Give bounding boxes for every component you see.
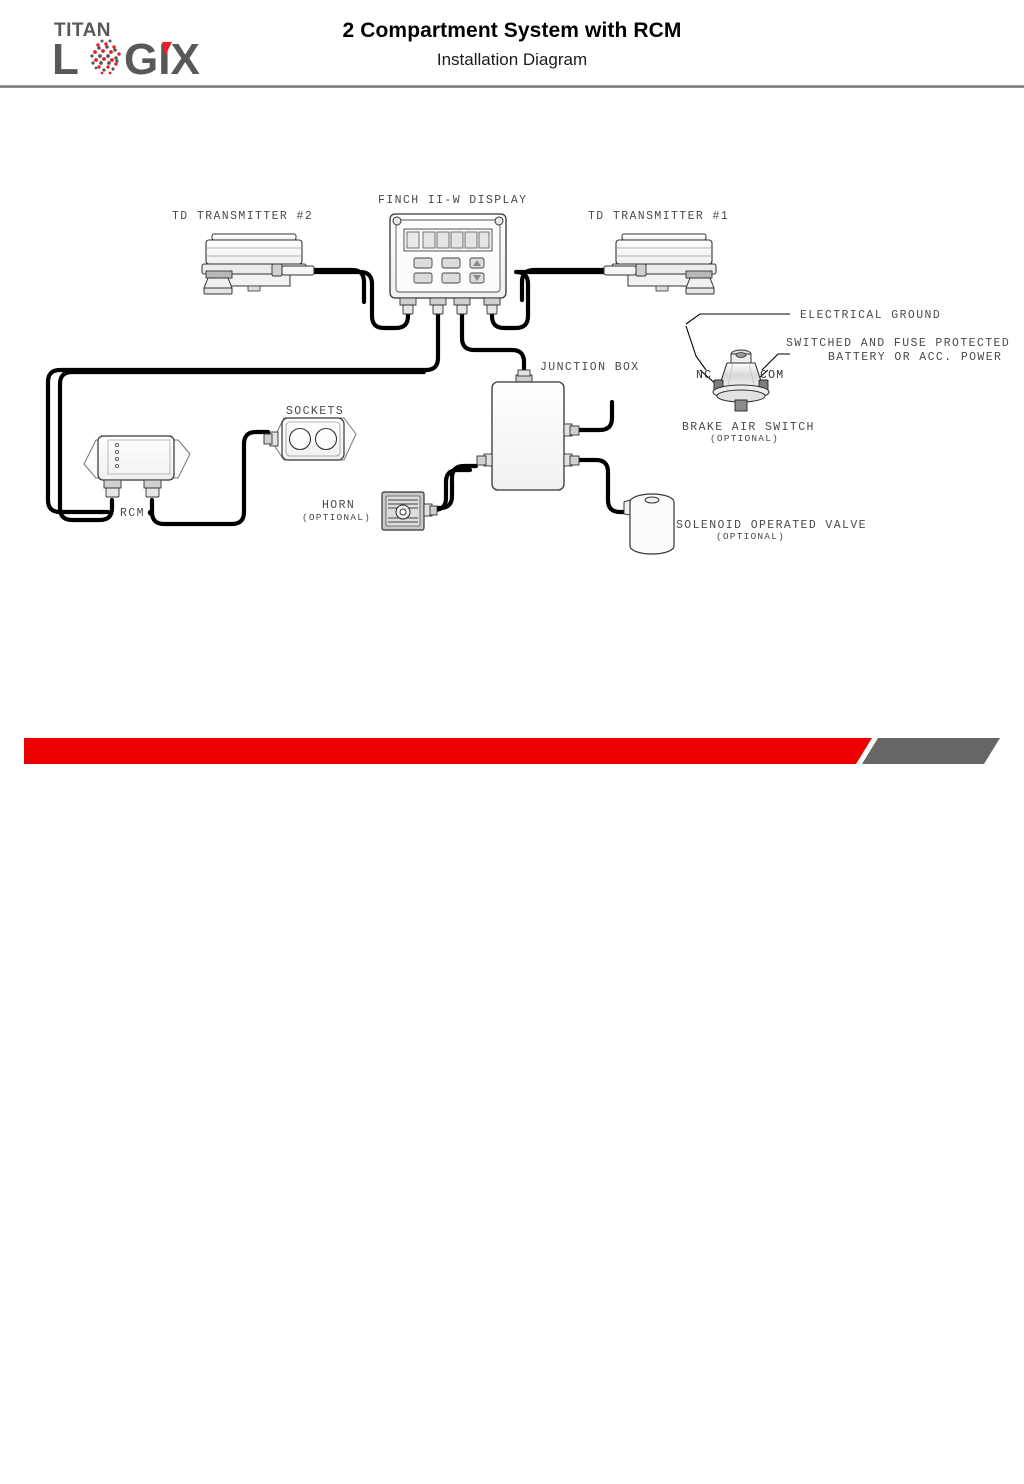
display-cable-glands	[400, 298, 500, 314]
finch-display-label: FINCH II-W DISPLAY	[378, 194, 527, 207]
titan-logix-logo: TITAN L	[52, 16, 217, 78]
wire-display-g1	[276, 272, 408, 328]
wire-td1-to-display	[522, 270, 610, 300]
td-transmitter-2: TD TRANSMITTER #2	[172, 210, 314, 294]
wire-display-g4	[492, 272, 610, 328]
right-annotations: ELECTRICAL GROUND SWITCHED AND FUSE PROT…	[786, 309, 1010, 364]
brake-com-label: COM	[760, 369, 784, 382]
page-title: 2 Compartment System with RCM	[262, 18, 762, 44]
installation-diagram: TD TRANSMITTER #2 FINCH II-W DISPLAY	[0, 88, 1024, 728]
horn-device: HORN (OPTIONAL)	[302, 492, 437, 530]
td-transmitter-2-label: TD TRANSMITTER #2	[172, 210, 313, 223]
sockets-device: SOCKETS	[264, 405, 356, 460]
diagram-canvas: TD TRANSMITTER #2 FINCH II-W DISPLAY	[0, 88, 1024, 728]
wire-horn	[428, 466, 476, 508]
logo-gix-text: GIX	[124, 35, 200, 78]
td-transmitter-1-label: TD TRANSMITTER #1	[588, 210, 729, 223]
junction-box: JUNCTION BOX	[477, 361, 640, 490]
footer-gray-bar	[862, 738, 1000, 764]
page-subtitle: Installation Diagram	[262, 49, 762, 70]
footer-red-bar	[24, 738, 872, 764]
wire-junction-to-brake	[578, 402, 612, 430]
brake-nc-label: NC	[696, 369, 712, 382]
title-block: 2 Compartment System with RCM Installati…	[262, 18, 762, 71]
page-header: TITAN L	[0, 0, 1024, 88]
logo-globe-icon	[88, 38, 126, 76]
sockets-label: SOCKETS	[286, 405, 344, 418]
brake-air-switch-optional: (OPTIONAL)	[710, 433, 779, 444]
finch-display: FINCH II-W DISPLAY	[378, 194, 527, 314]
solenoid-valve-optional: (OPTIONAL)	[716, 531, 785, 542]
logo-l-letter: L	[52, 35, 79, 78]
page-footer: help.titanlogix.com	[0, 730, 1024, 768]
footer-url-link[interactable]: help.titanlogix.com	[30, 1474, 114, 1484]
rcm-label: RCM	[120, 507, 145, 520]
lcd-digits	[423, 232, 489, 248]
horn-optional-label: (OPTIONAL)	[302, 512, 371, 523]
solenoid-valve: SOLENOID OPERATED VALVE (OPTIONAL)	[624, 494, 867, 554]
td-transmitter-1: TD TRANSMITTER #1	[588, 210, 729, 294]
horn-label: HORN	[322, 499, 355, 512]
junction-box-label: JUNCTION BOX	[540, 361, 640, 374]
rcm-device: RCM	[84, 436, 190, 520]
electrical-ground-label: ELECTRICAL GROUND	[800, 309, 941, 322]
battery-power-label-line1: SWITCHED AND FUSE PROTECTED	[786, 337, 1010, 350]
battery-power-label-line2: BATTERY OR ACC. POWER	[828, 351, 1002, 364]
